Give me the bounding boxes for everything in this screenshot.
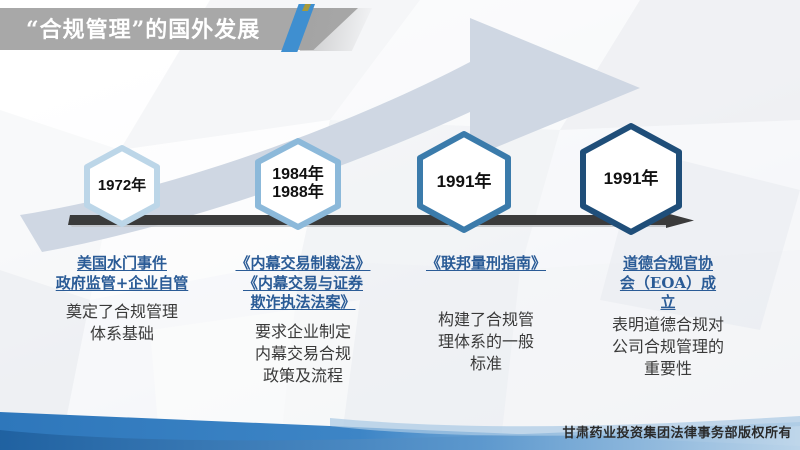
milestone-heading: 《内幕交易制裁法》 《内幕交易与证券 欺诈执法法案》	[213, 254, 393, 313]
heading-line: 《内幕交易制裁法》	[213, 254, 393, 274]
milestone-heading: 《联邦量刑指南》	[396, 254, 576, 274]
heading-line: 《内幕交易与证券	[213, 274, 393, 294]
heading-line: 立	[583, 293, 753, 313]
hexagon-marker-1972[interactable]: 1972年	[81, 145, 163, 227]
body-line: 奠定了合规管理	[32, 302, 212, 324]
slide-canvas: “合规管理”的国外发展 1972年 1984年 1988年 1991年	[0, 0, 800, 450]
hexagon-marker-1991-b[interactable]: 1991年	[575, 123, 687, 235]
body-line: 理体系的一般	[396, 332, 576, 354]
hexagon-marker-1991-a[interactable]: 1991年	[413, 131, 515, 233]
copyright-footer: 甘肃药业投资集团法律事务部版权所有	[562, 422, 792, 441]
milestone-column-1: 美国水门事件 政府监管+企业自管 奠定了合规管理 体系基础	[32, 254, 212, 346]
heading-line: 美国水门事件	[32, 254, 212, 274]
heading-line: 政府监管+企业自管	[32, 274, 212, 294]
heading-line: 《联邦量刑指南》	[396, 254, 576, 274]
heading-line: 会（EOA）成	[583, 274, 753, 294]
body-line: 体系基础	[32, 324, 212, 346]
milestone-column-3: 《联邦量刑指南》 构建了合规管 理体系的一般 标准	[396, 254, 576, 376]
body-line: 公司合规管理的	[583, 337, 753, 359]
milestone-body: 奠定了合规管理 体系基础	[32, 302, 212, 346]
heading-line: 道德合规官协	[583, 254, 753, 274]
milestone-heading: 美国水门事件 政府监管+企业自管	[32, 254, 212, 293]
page-title: “合规管理”的国外发展	[26, 10, 260, 50]
hexagon-marker-1984-1988[interactable]: 1984年 1988年	[252, 138, 344, 230]
heading-line: 欺诈执法法案》	[213, 293, 393, 313]
body-line: 表明道德合规对	[583, 315, 753, 337]
milestone-heading: 道德合规官协 会（EOA）成 立	[583, 254, 753, 313]
body-line: 要求企业制定	[213, 322, 393, 344]
body-line: 构建了合规管	[396, 310, 576, 332]
